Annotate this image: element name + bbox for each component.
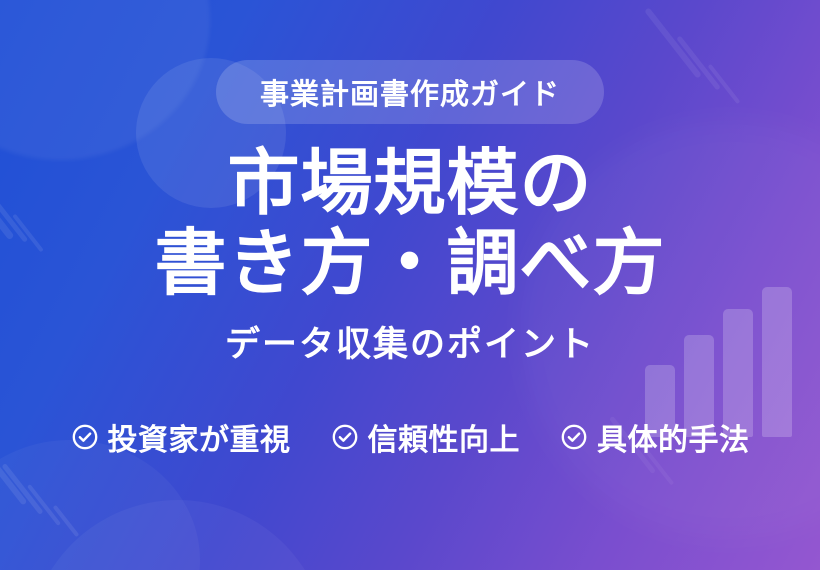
check-circle-icon bbox=[71, 423, 99, 451]
page-title: 市場規模の 書き方・調べ方 bbox=[154, 146, 665, 300]
check-circle-icon bbox=[560, 423, 588, 451]
guide-badge: 事業計画書作成ガイド bbox=[216, 60, 604, 124]
guide-badge-label: 事業計画書作成ガイド bbox=[260, 71, 560, 113]
feature-item-label: 具体的手法 bbox=[597, 415, 750, 459]
banner-content: 事業計画書作成ガイド 市場規模の 書き方・調べ方 データ収集のポイント 投資家が… bbox=[0, 0, 820, 570]
check-circle-icon bbox=[331, 423, 359, 451]
page-subtitle: データ収集のポイント bbox=[225, 316, 595, 367]
feature-item-label: 信頼性向上 bbox=[368, 415, 521, 459]
feature-item: 信頼性向上 bbox=[331, 415, 521, 459]
page-title-line-1: 市場規模の bbox=[154, 146, 665, 220]
feature-item: 投資家が重視 bbox=[71, 415, 291, 459]
page-title-line-2: 書き方・調べ方 bbox=[154, 226, 665, 300]
feature-item: 具体的手法 bbox=[560, 415, 750, 459]
feature-list: 投資家が重視 信頼性向上 具体的手法 bbox=[71, 415, 750, 459]
feature-item-label: 投資家が重視 bbox=[108, 415, 291, 459]
promo-banner: 事業計画書作成ガイド 市場規模の 書き方・調べ方 データ収集のポイント 投資家が… bbox=[0, 0, 820, 570]
